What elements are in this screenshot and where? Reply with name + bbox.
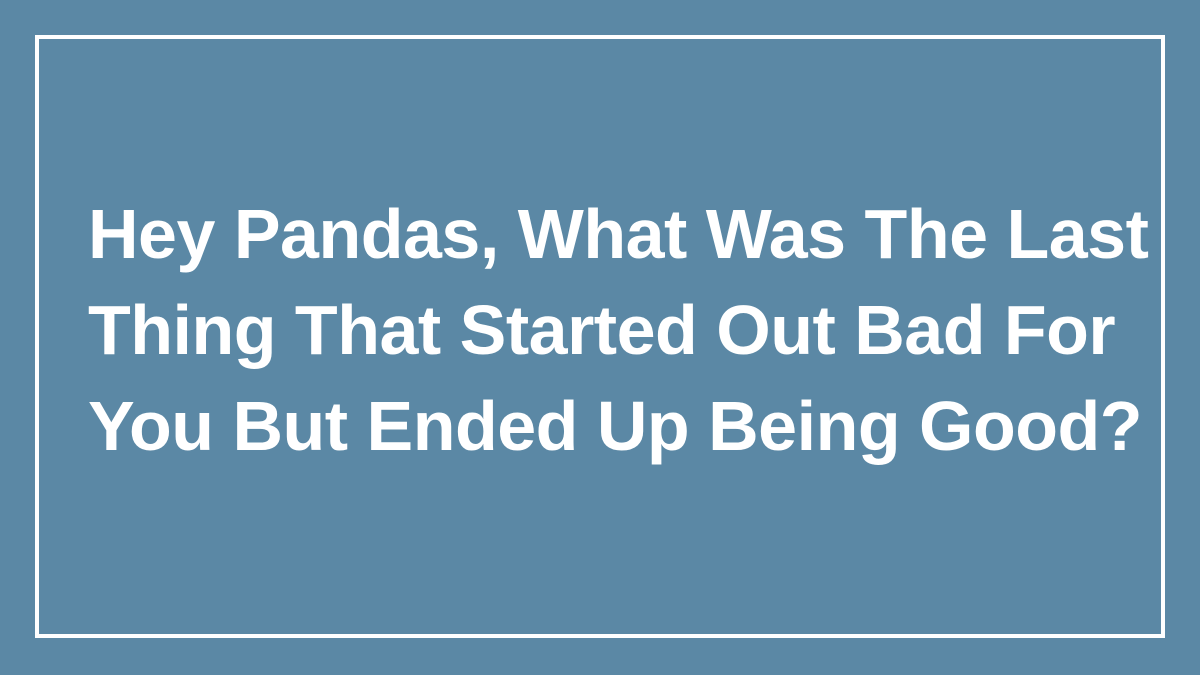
headline-line-1: Hey Pandas, What Was The Last xyxy=(88,186,1118,282)
headline-line-3: You But Ended Up Being Good? xyxy=(88,378,1118,474)
headline-line-2: Thing That Started Out Bad For xyxy=(88,282,1118,378)
poster-canvas: Hey Pandas, What Was The Last Thing That… xyxy=(0,0,1200,675)
headline-text-block: Hey Pandas, What Was The Last Thing That… xyxy=(88,186,1118,474)
